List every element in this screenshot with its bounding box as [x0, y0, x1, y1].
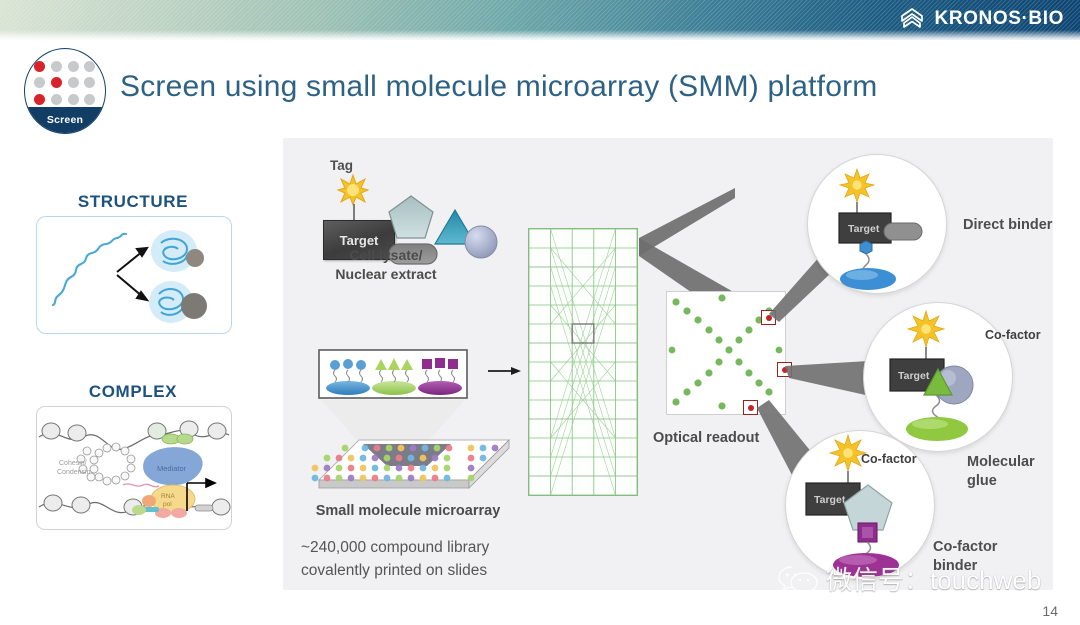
badge-circle: Screen	[24, 48, 106, 134]
structure-heading: STRUCTURE	[18, 192, 248, 212]
condensin-label: Condensin	[57, 469, 91, 476]
mediator-label: Mediator	[157, 464, 187, 473]
lysate-line-2: Nuclear extract	[335, 266, 436, 282]
badge-label: Screen	[47, 114, 83, 126]
hit-marker	[743, 400, 758, 415]
library-caption: ~240,000 compound library covalently pri…	[301, 536, 591, 582]
complex-heading: COMPLEX	[18, 382, 248, 402]
library-line-2: covalently printed on slides	[301, 562, 487, 579]
flow-arrow-icon	[488, 364, 522, 378]
glue-label-line-2: glue	[967, 473, 997, 489]
glue-label-line-1: Molecular	[967, 454, 1035, 470]
rna-pol-label-2: pol	[163, 501, 172, 508]
smm-workflow-panel: Tag Target	[283, 138, 1053, 590]
library-line-1: ~240,000 compound library	[301, 539, 489, 556]
svg-text:Target: Target	[848, 223, 880, 235]
callout-direct-binder-label: Direct binder	[963, 216, 1052, 235]
page-title: Screen using small molecule microarray (…	[120, 70, 877, 104]
screen-stage-badge: Screen	[24, 48, 106, 134]
lysate-label: Cell lysate/ Nuclear extract	[291, 246, 481, 284]
svg-text:Target: Target	[814, 494, 846, 506]
page-number: 14	[1042, 603, 1058, 619]
binder-label-line-2: binder	[933, 558, 977, 574]
badge-band: Screen	[25, 107, 105, 133]
callout-cofactor-binder-label: Co-factor binder	[933, 538, 1025, 576]
header-fade	[0, 30, 1080, 42]
badge-dot	[34, 77, 45, 88]
badge-dot	[84, 94, 95, 105]
brand-logo: KRONOS·BIO	[898, 7, 1065, 31]
microarray-label: Small molecule microarray	[293, 503, 523, 519]
kronos-chevron-logo-icon	[898, 7, 926, 31]
cohesin-label: Cohesin/	[59, 460, 87, 467]
readout-label: Optical readout	[653, 430, 759, 446]
binder-label-line-1: Co-factor	[933, 539, 997, 555]
badge-dot	[34, 61, 45, 72]
svg-text:Target: Target	[898, 370, 930, 382]
lysate-line-1: Cell lysate/	[349, 247, 422, 263]
badge-dot	[68, 61, 79, 72]
badge-dot	[68, 94, 79, 105]
badge-dot	[51, 94, 62, 105]
badge-dot	[51, 61, 62, 72]
callout-glue-cofactor-label: Co-factor	[985, 328, 1041, 342]
callout-direct-binder: Target	[807, 154, 947, 294]
structure-illustration	[36, 216, 232, 334]
badge-dot	[84, 77, 95, 88]
badge-dot	[68, 77, 79, 88]
callout-molecular-glue-label: Molecular glue	[967, 453, 1059, 491]
callout-molecular-glue: Target	[863, 302, 1013, 452]
complex-illustration: Cohesin/ Condensin Mediator RNA pol	[36, 406, 232, 530]
hit-dot	[748, 405, 754, 411]
badge-dot	[84, 61, 95, 72]
brand-wordmark: KRONOS·BIO	[935, 8, 1065, 30]
badge-dot	[34, 94, 45, 105]
fluorescent-tag-icon	[337, 174, 369, 206]
callout-binder-cofactor-label: Co-factor	[861, 452, 917, 466]
badge-dot	[51, 77, 62, 88]
badge-dot-grid	[34, 61, 98, 107]
tag-label: Tag	[330, 158, 353, 173]
rna-pol-label: RNA	[161, 493, 175, 500]
